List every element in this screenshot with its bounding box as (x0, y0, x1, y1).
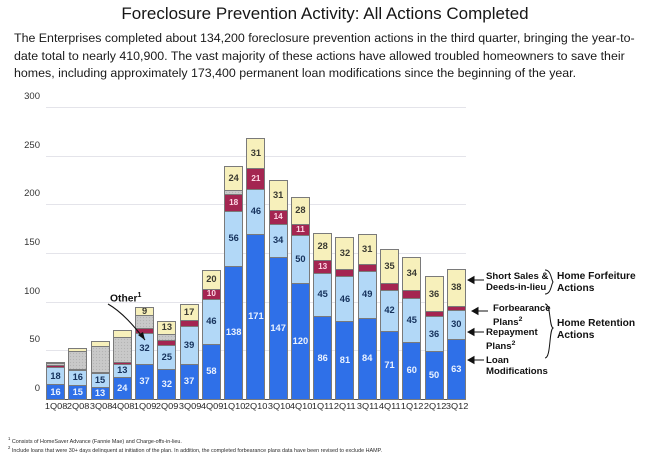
bar-segment[interactable]: 28 (291, 197, 310, 224)
bar-value-label: 16 (50, 388, 60, 397)
bar-column[interactable]: 28134586 (313, 108, 332, 400)
brace-forfeiture (545, 270, 553, 294)
y-axis-tick-label: 150 (14, 237, 40, 248)
bar-column[interactable]: 51513 (91, 108, 110, 400)
bar-column[interactable]: 1352532 (157, 108, 176, 400)
legend-short-sales-line2: Deeds-in-lieu (486, 282, 548, 293)
bar-value-label: 11 (296, 226, 305, 234)
bar-value-label: 39 (184, 341, 194, 350)
bar-value-label: 46 (251, 207, 261, 216)
x-axis-tick-label: 4Q11 (379, 402, 400, 416)
bar-value-label: 37 (184, 377, 194, 386)
bar-value-label: 32 (162, 380, 172, 389)
bar-segment[interactable]: 71 (380, 331, 399, 400)
bar-value-label: 45 (407, 316, 417, 325)
footnote-2: 2 Include loans that were 30+ days delin… (8, 445, 382, 454)
bar-value-label: 13 (95, 389, 105, 398)
brace-retention (545, 304, 553, 358)
bar-segment[interactable]: 7 (380, 283, 399, 290)
bar-segment[interactable]: 24 (224, 166, 243, 189)
other-callout-arrow (100, 296, 170, 354)
bar-value-label: 34 (273, 236, 283, 245)
bar-column[interactable]: 953237 (135, 108, 154, 400)
legend-loan-modifications: Loan Modifications (486, 355, 548, 378)
bar-segment[interactable]: 171 (246, 234, 265, 400)
legend-group-retention-line2: Actions (557, 330, 635, 342)
footnote-2-marker: 2 (8, 445, 10, 450)
legend-leader-arrows (462, 262, 488, 382)
bar-group: 1816161551513713249532371352532176393720… (46, 108, 466, 400)
legend-short-sales: Short Sales & Deeds-in-lieu (486, 271, 548, 294)
bar-segment[interactable]: 31 (358, 234, 377, 264)
bar-value-label: 18 (50, 372, 60, 381)
bar-value-label: 63 (451, 365, 461, 374)
legend-group-home-forfeiture: Home Forfeiture Actions (557, 271, 636, 296)
x-axis-tick-label: 3Q10 (268, 402, 289, 416)
bar-value-label: 50 (295, 255, 305, 264)
x-axis-tick-label: 4Q10 (290, 402, 311, 416)
x-axis-tick-label: 2Q09 (156, 402, 177, 416)
bar-column[interactable]: 71324 (113, 108, 132, 400)
bar-value-label: 31 (251, 149, 261, 158)
bar-segment[interactable]: 42 (380, 290, 399, 331)
bar-segment[interactable]: 13 (91, 387, 110, 400)
bar-segment[interactable]: 32 (157, 369, 176, 400)
bar-segment[interactable]: 46 (246, 189, 265, 234)
y-axis-tick-label: 50 (14, 334, 40, 345)
bar-segment[interactable]: 81 (335, 321, 354, 400)
bar-value-label: 34 (407, 269, 417, 278)
bar-segment[interactable]: 7 (358, 264, 377, 271)
footnote-2-text: Include loans that were 30+ days delinqu… (12, 448, 382, 454)
bar-segment[interactable]: 34 (269, 224, 288, 257)
legend-group-retention-line1: Home Retention (557, 318, 635, 330)
bar-value-label: 171 (248, 312, 264, 321)
bar-value-label: 147 (270, 324, 286, 333)
bar-segment[interactable]: 20 (202, 270, 221, 289)
x-axis-tick-label: 2Q10 (245, 402, 266, 416)
intro-paragraph: The Enterprises completed about 134,200 … (14, 30, 640, 83)
y-axis-tick-label: 0 (14, 383, 40, 394)
bar-value-label: 32 (340, 249, 350, 258)
bar-column[interactable]: 311434147 (269, 108, 288, 400)
bar-value-label: 50 (429, 371, 439, 380)
bar-value-label: 21 (251, 175, 260, 183)
bar-column[interactable]: 3653650 (425, 108, 444, 400)
bar-value-label: 35 (384, 262, 394, 271)
x-axis-tick-label: 1Q09 (134, 402, 155, 416)
bar-value-label: 60 (407, 366, 417, 375)
bar-segment[interactable]: 138 (224, 266, 243, 400)
bar-segment[interactable]: 15 (91, 373, 110, 388)
x-axis-tick-label: 3Q12 (446, 402, 467, 416)
bar-segment[interactable]: 36 (425, 316, 444, 351)
bar-value-label: 15 (73, 388, 83, 397)
bar-value-label: 24 (117, 384, 127, 393)
bar-column[interactable]: 3574271 (380, 108, 399, 400)
bar-segment[interactable]: 56 (224, 211, 243, 266)
bar-value-label: 31 (273, 191, 283, 200)
bar-segment[interactable]: 31 (246, 138, 265, 168)
bar-segment[interactable]: 15 (68, 385, 87, 400)
legend-repayment-line2-text: Plans (486, 342, 512, 353)
bar-value-label: 71 (384, 361, 394, 370)
footnote-1: 1 Consists of HomeSaver Advance (Fannie … (8, 436, 182, 445)
other-callout-superscript: 1 (137, 292, 141, 299)
legend-repayment-plans: Repayment Plans2 (486, 327, 538, 353)
bar-value-label: 42 (384, 306, 394, 315)
other-callout-text: Other (110, 293, 137, 304)
bar-segment[interactable]: 31 (269, 180, 288, 210)
bar-value-label: 46 (206, 317, 216, 326)
x-axis-tick-label: 1Q08 (45, 402, 66, 416)
bar-column[interactable]: 3284681 (335, 108, 354, 400)
bar-segment[interactable]: 50 (425, 351, 444, 400)
bar-value-label: 36 (429, 290, 439, 299)
bar-segment[interactable]: 11 (291, 224, 310, 235)
legend-loan-mod-line2: Modifications (486, 366, 548, 377)
bar-value-label: 58 (206, 367, 216, 376)
bar-segment[interactable]: 84 (358, 318, 377, 400)
bar-segment[interactable]: 39 (180, 326, 199, 364)
legend-loan-mod-line1: Loan (486, 355, 548, 366)
bar-value-label: 49 (362, 290, 372, 299)
other-callout-label: Other1 (110, 292, 141, 304)
x-axis-tick-label: 2Q08 (67, 402, 88, 416)
bar-value-label: 120 (293, 337, 309, 346)
x-axis-tick-label: 3Q08 (89, 402, 110, 416)
footnote-1-text: Consists of HomeSaver Advance (Fannie Ma… (12, 439, 182, 445)
bar-value-label: 16 (73, 373, 83, 382)
bar-column[interactable]: 20104658 (202, 108, 221, 400)
bar-value-label: 28 (295, 206, 305, 215)
legend-repayment-superscript: 2 (512, 340, 516, 347)
legend-forbearance-line1: Forbearance (493, 303, 551, 314)
legend-braces (543, 266, 557, 386)
bar-segment[interactable]: 45 (402, 298, 421, 342)
bar-value-label: 14 (274, 213, 283, 221)
legend-forbearance-plans: Forbearance Plans2 (493, 303, 551, 329)
x-axis-tick-label: 2Q12 (423, 402, 444, 416)
bar-segment[interactable]: 50 (291, 235, 310, 284)
bar-segment[interactable]: 46 (202, 299, 221, 344)
chart-page: Foreclosure Prevention Activity: All Act… (0, 0, 650, 459)
bar-segment[interactable]: 8 (335, 269, 354, 277)
bar-value-label: 84 (362, 354, 372, 363)
footnote-1-marker: 1 (8, 436, 10, 441)
bar-value-label: 36 (429, 330, 439, 339)
y-axis-tick-label: 100 (14, 286, 40, 297)
bar-value-label: 13 (318, 263, 327, 271)
bar-segment[interactable]: 46 (335, 276, 354, 321)
bar-segment[interactable]: 32 (335, 237, 354, 268)
bar-segment[interactable]: 21 (246, 168, 265, 188)
bar-value-label: 46 (340, 295, 350, 304)
bar-segment[interactable]: 14 (269, 210, 288, 224)
bar-segment[interactable]: 16 (68, 370, 87, 386)
bar-value-label: 24 (228, 174, 238, 183)
bar-segment[interactable]: 58 (202, 344, 221, 400)
bar-segment[interactable]: 13 (313, 260, 332, 273)
legend-repayment-line1: Repayment (486, 327, 538, 338)
page-title: Foreclosure Prevention Activity: All Act… (0, 4, 650, 24)
bar-segment[interactable]: 16 (46, 384, 65, 400)
bar-value-label: 18 (229, 199, 238, 207)
bar-value-label: 56 (228, 234, 238, 243)
y-axis-tick-label: 300 (14, 91, 40, 102)
bar-value-label: 30 (451, 320, 461, 329)
x-axis-labels: 1Q082Q083Q084Q081Q092Q093Q094Q091Q102Q10… (46, 402, 466, 416)
bar-segment[interactable]: 37 (135, 364, 154, 400)
bar-segment[interactable]: 35 (380, 249, 399, 283)
legend-group-forfeiture-line1: Home Forfeiture (557, 271, 636, 283)
bar-segment[interactable]: 36 (425, 276, 444, 311)
bar-segment[interactable]: 49 (358, 271, 377, 319)
bar-value-label: 81 (340, 356, 350, 365)
bar-column[interactable]: 312146171 (246, 108, 265, 400)
x-axis-tick-label: 4Q09 (201, 402, 222, 416)
bar-column[interactable]: 1816 (46, 108, 65, 400)
bar-value-label: 20 (206, 275, 216, 284)
bar-segment[interactable]: 18 (224, 194, 243, 212)
bar-value-label: 86 (318, 354, 328, 363)
bar-value-label: 45 (318, 290, 328, 299)
y-axis-tick-label: 250 (14, 140, 40, 151)
plot-area: 050100150200250300 181616155151371324953… (46, 108, 466, 400)
bar-column[interactable]: 1763937 (180, 108, 199, 400)
legend-group-forfeiture-line2: Actions (557, 283, 636, 295)
bar-segment[interactable]: 86 (313, 316, 332, 400)
bar-segment[interactable]: 17 (180, 304, 199, 321)
x-axis-tick-label: 1Q10 (223, 402, 244, 416)
bar-value-label: 28 (318, 242, 328, 251)
bar-segment[interactable]: 37 (180, 364, 199, 400)
bar-segment[interactable]: 24 (113, 377, 132, 400)
bar-value-label: 13 (117, 366, 127, 375)
bar-segment[interactable]: 28 (313, 233, 332, 260)
bar-value-label: 15 (95, 376, 105, 385)
bar-column[interactable]: 3484560 (402, 108, 421, 400)
bar-segment[interactable] (68, 351, 87, 369)
legend-repayment-line2: Plans2 (486, 338, 538, 353)
bar-segment[interactable]: 147 (269, 257, 288, 400)
y-axis-tick-label: 200 (14, 188, 40, 199)
legend-group-home-retention: Home Retention Actions (557, 318, 635, 343)
bar-segment[interactable]: 8 (402, 290, 421, 298)
x-axis-tick-label: 2Q11 (334, 402, 355, 416)
bar-value-label: 10 (207, 290, 216, 298)
bar-column[interactable]: 3174984 (358, 108, 377, 400)
bar-segment[interactable]: 45 (313, 273, 332, 317)
bar-value-label: 138 (226, 328, 242, 337)
bar-column[interactable]: 281150120 (291, 108, 310, 400)
bar-segment[interactable]: 10 (202, 289, 221, 299)
bar-segment[interactable]: 13 (113, 364, 132, 377)
bar-segment[interactable]: 120 (291, 283, 310, 400)
bar-value-label: 38 (451, 283, 461, 292)
x-axis-tick-label: 4Q08 (112, 402, 133, 416)
bar-value-label: 17 (184, 308, 194, 317)
x-axis-tick-label: 3Q09 (178, 402, 199, 416)
x-axis-tick-label: 3Q11 (357, 402, 378, 416)
bar-value-label: 31 (362, 245, 372, 254)
bar-column[interactable]: 1615 (68, 108, 87, 400)
bar-segment[interactable]: 60 (402, 342, 421, 400)
x-axis-tick-label: 1Q11 (312, 402, 333, 416)
legend-forbearance-superscript: 2 (519, 316, 523, 323)
bar-segment[interactable]: 34 (402, 257, 421, 290)
bar-column[interactable]: 241856138 (224, 108, 243, 400)
bar-value-label: 37 (139, 377, 149, 386)
bar-segment[interactable]: 18 (46, 367, 65, 385)
x-axis-tick-label: 1Q12 (401, 402, 422, 416)
legend-short-sales-line1: Short Sales & (486, 271, 548, 282)
